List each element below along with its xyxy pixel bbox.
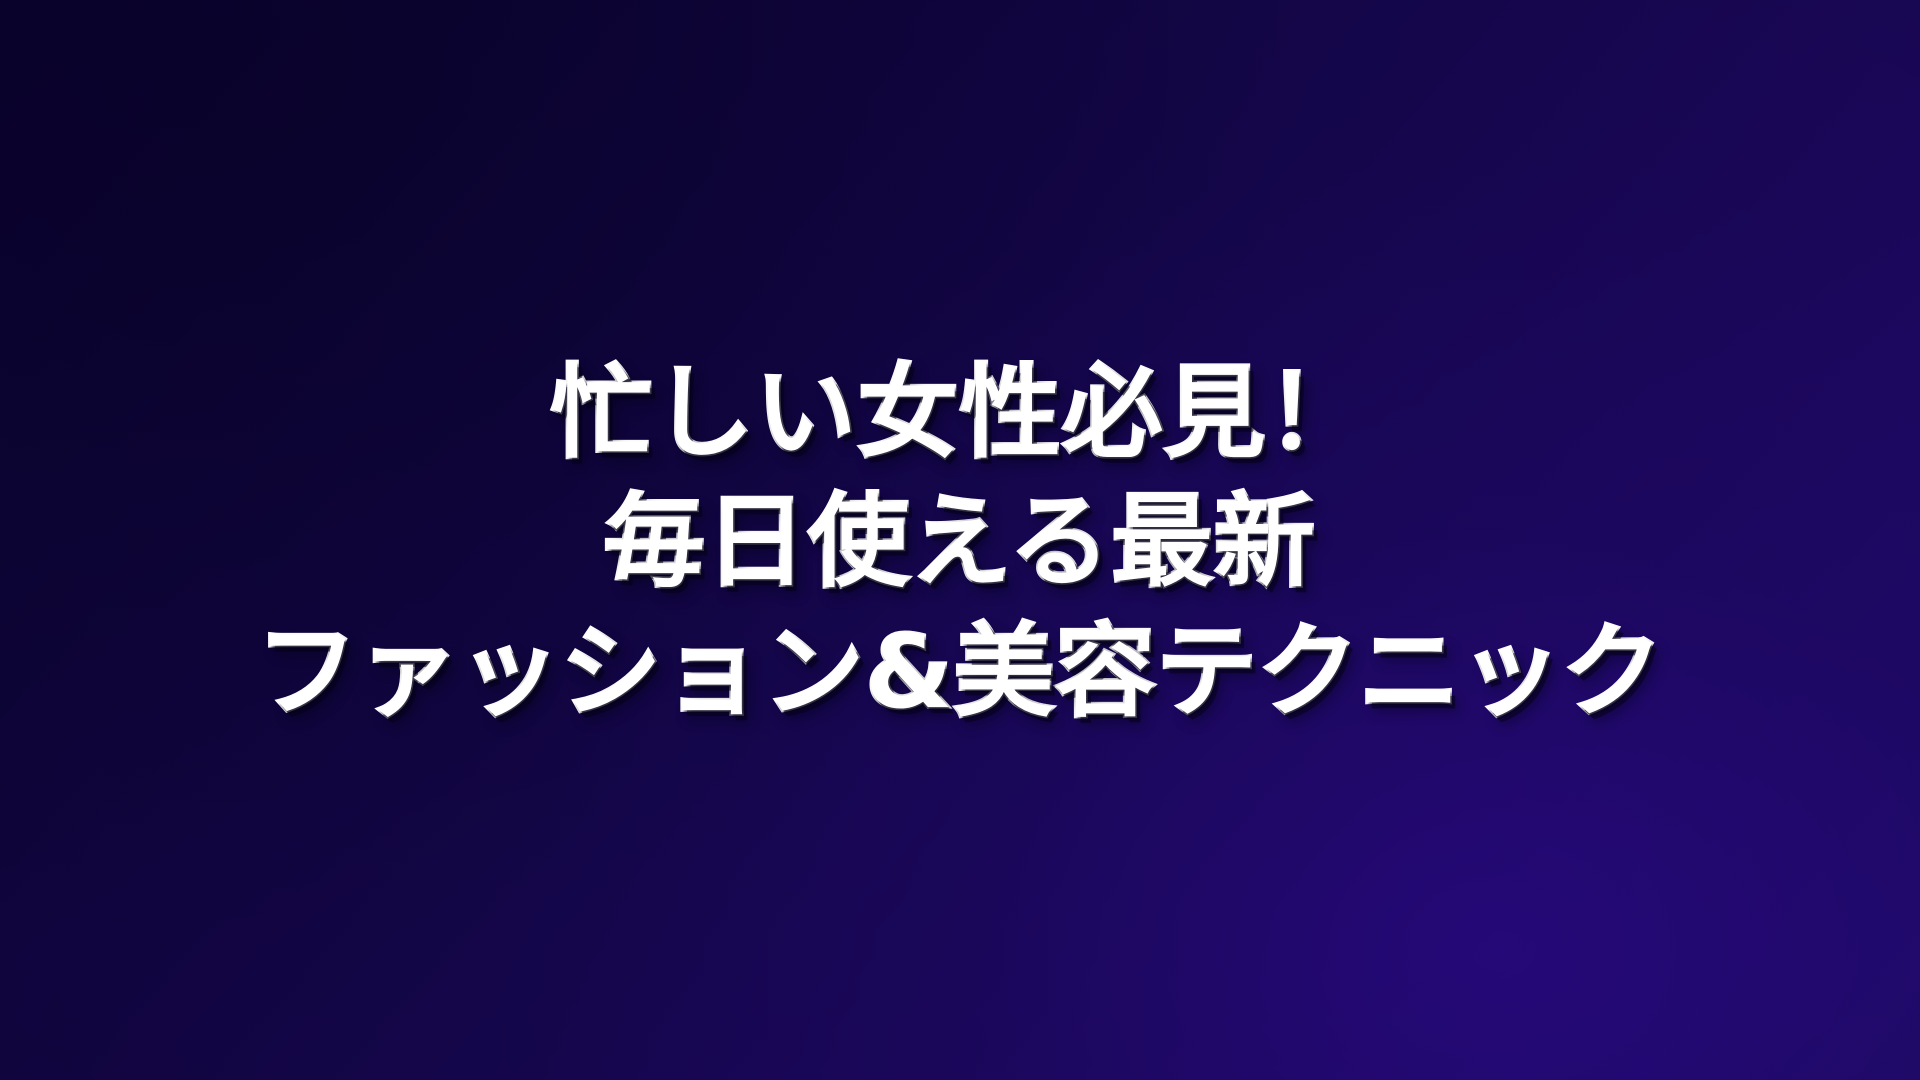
headline-block: 忙しい女性必見！ 毎日使える最新 ファッション&美容テクニック [0,0,1920,1080]
headline-line-2: 毎日使える最新 [604,489,1316,596]
title-slide: 忙しい女性必見！ 毎日使える最新 ファッション&美容テクニック [0,0,1920,1080]
headline-line-1: 忙しい女性必見！ [551,360,1369,467]
headline-line-3: ファッション&美容テクニック [257,619,1664,726]
